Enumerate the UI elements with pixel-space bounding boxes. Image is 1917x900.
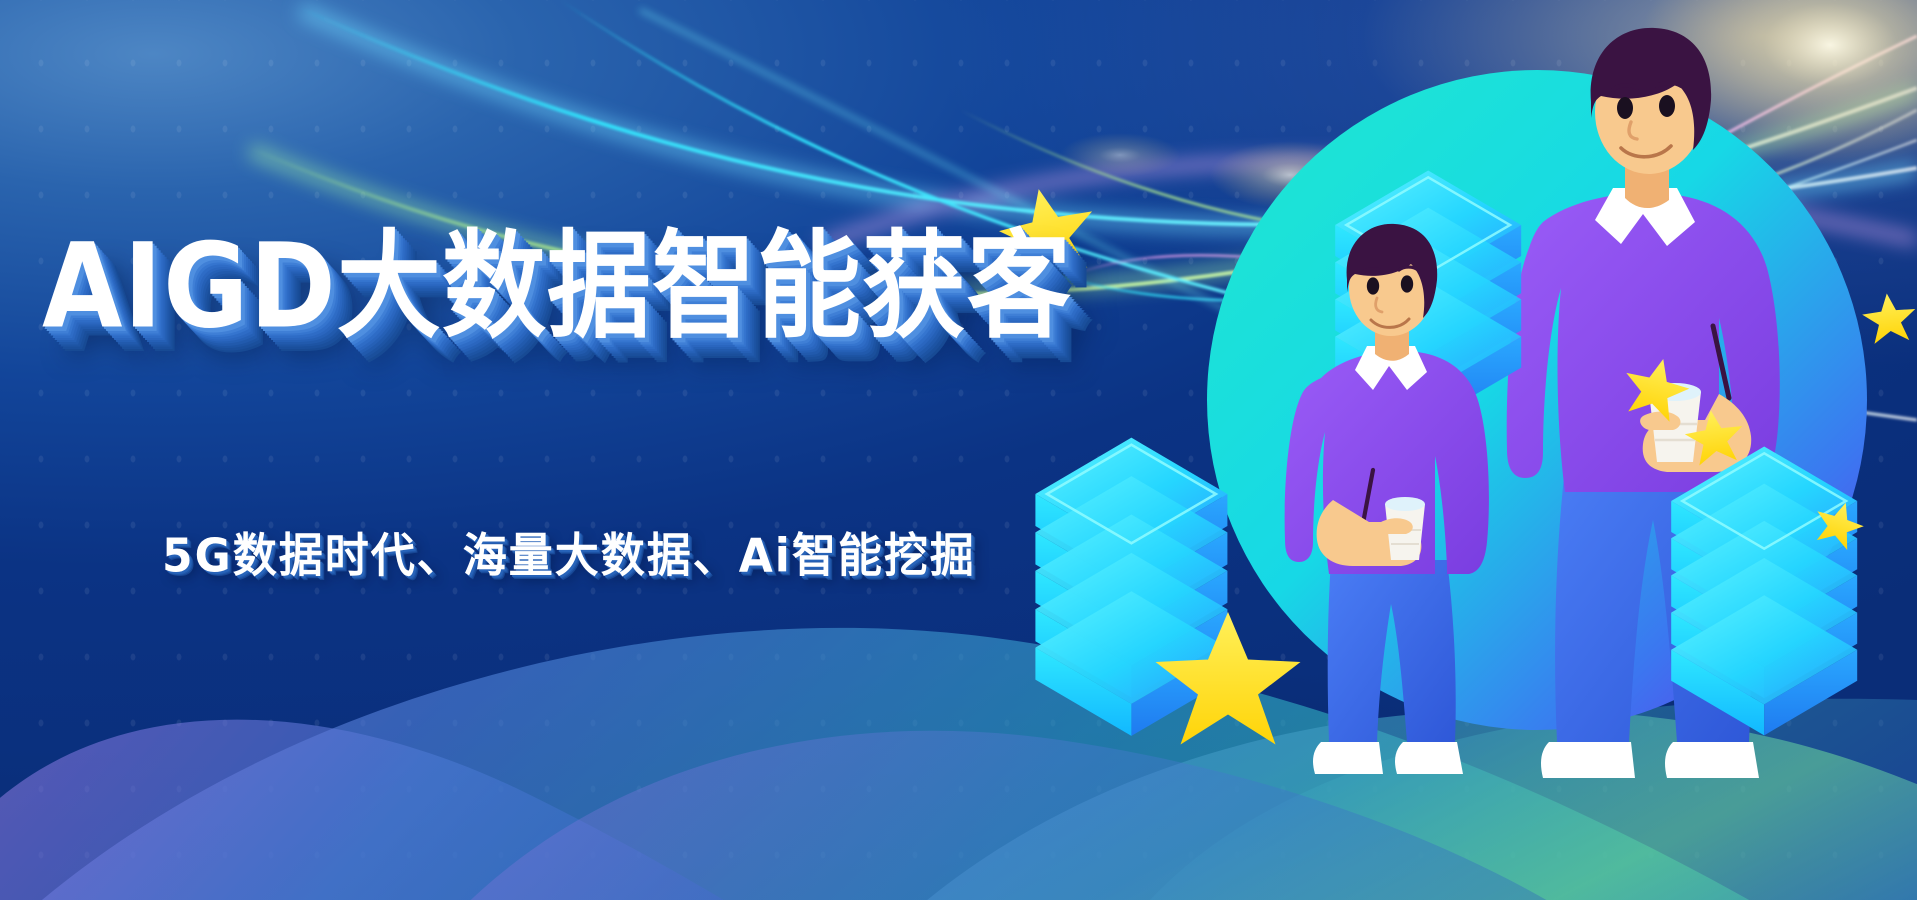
star-edge-right (1860, 291, 1917, 345)
person-tall-eye-right (1659, 95, 1675, 117)
server-stack-right (1671, 446, 1857, 735)
illustration-group (977, 0, 1917, 900)
title-wrap: AIGD大数据智能获客 (42, 228, 1062, 348)
page-subtitle: 5G数据时代、海量大数据、Ai智能挖掘 (162, 528, 976, 585)
banner-root: AIGD大数据智能获客 5G数据时代、海量大数据、Ai智能挖掘 (0, 0, 1917, 900)
person-short-shoe-right (1395, 742, 1463, 774)
hill-left (0, 720, 900, 900)
person-tall-shoe-right (1665, 742, 1759, 778)
page-title: AIGD大数据智能获客 (42, 228, 1062, 344)
person-short-shoe-left (1313, 742, 1383, 774)
person-tall-shoe-left (1541, 742, 1635, 778)
person-short-eye-left (1367, 277, 1379, 294)
copy-block: AIGD大数据智能获客 5G数据时代、海量大数据、Ai智能挖掘 (42, 228, 1062, 348)
person-tall-eye-left (1617, 97, 1633, 119)
person-short-eye-right (1401, 275, 1413, 292)
